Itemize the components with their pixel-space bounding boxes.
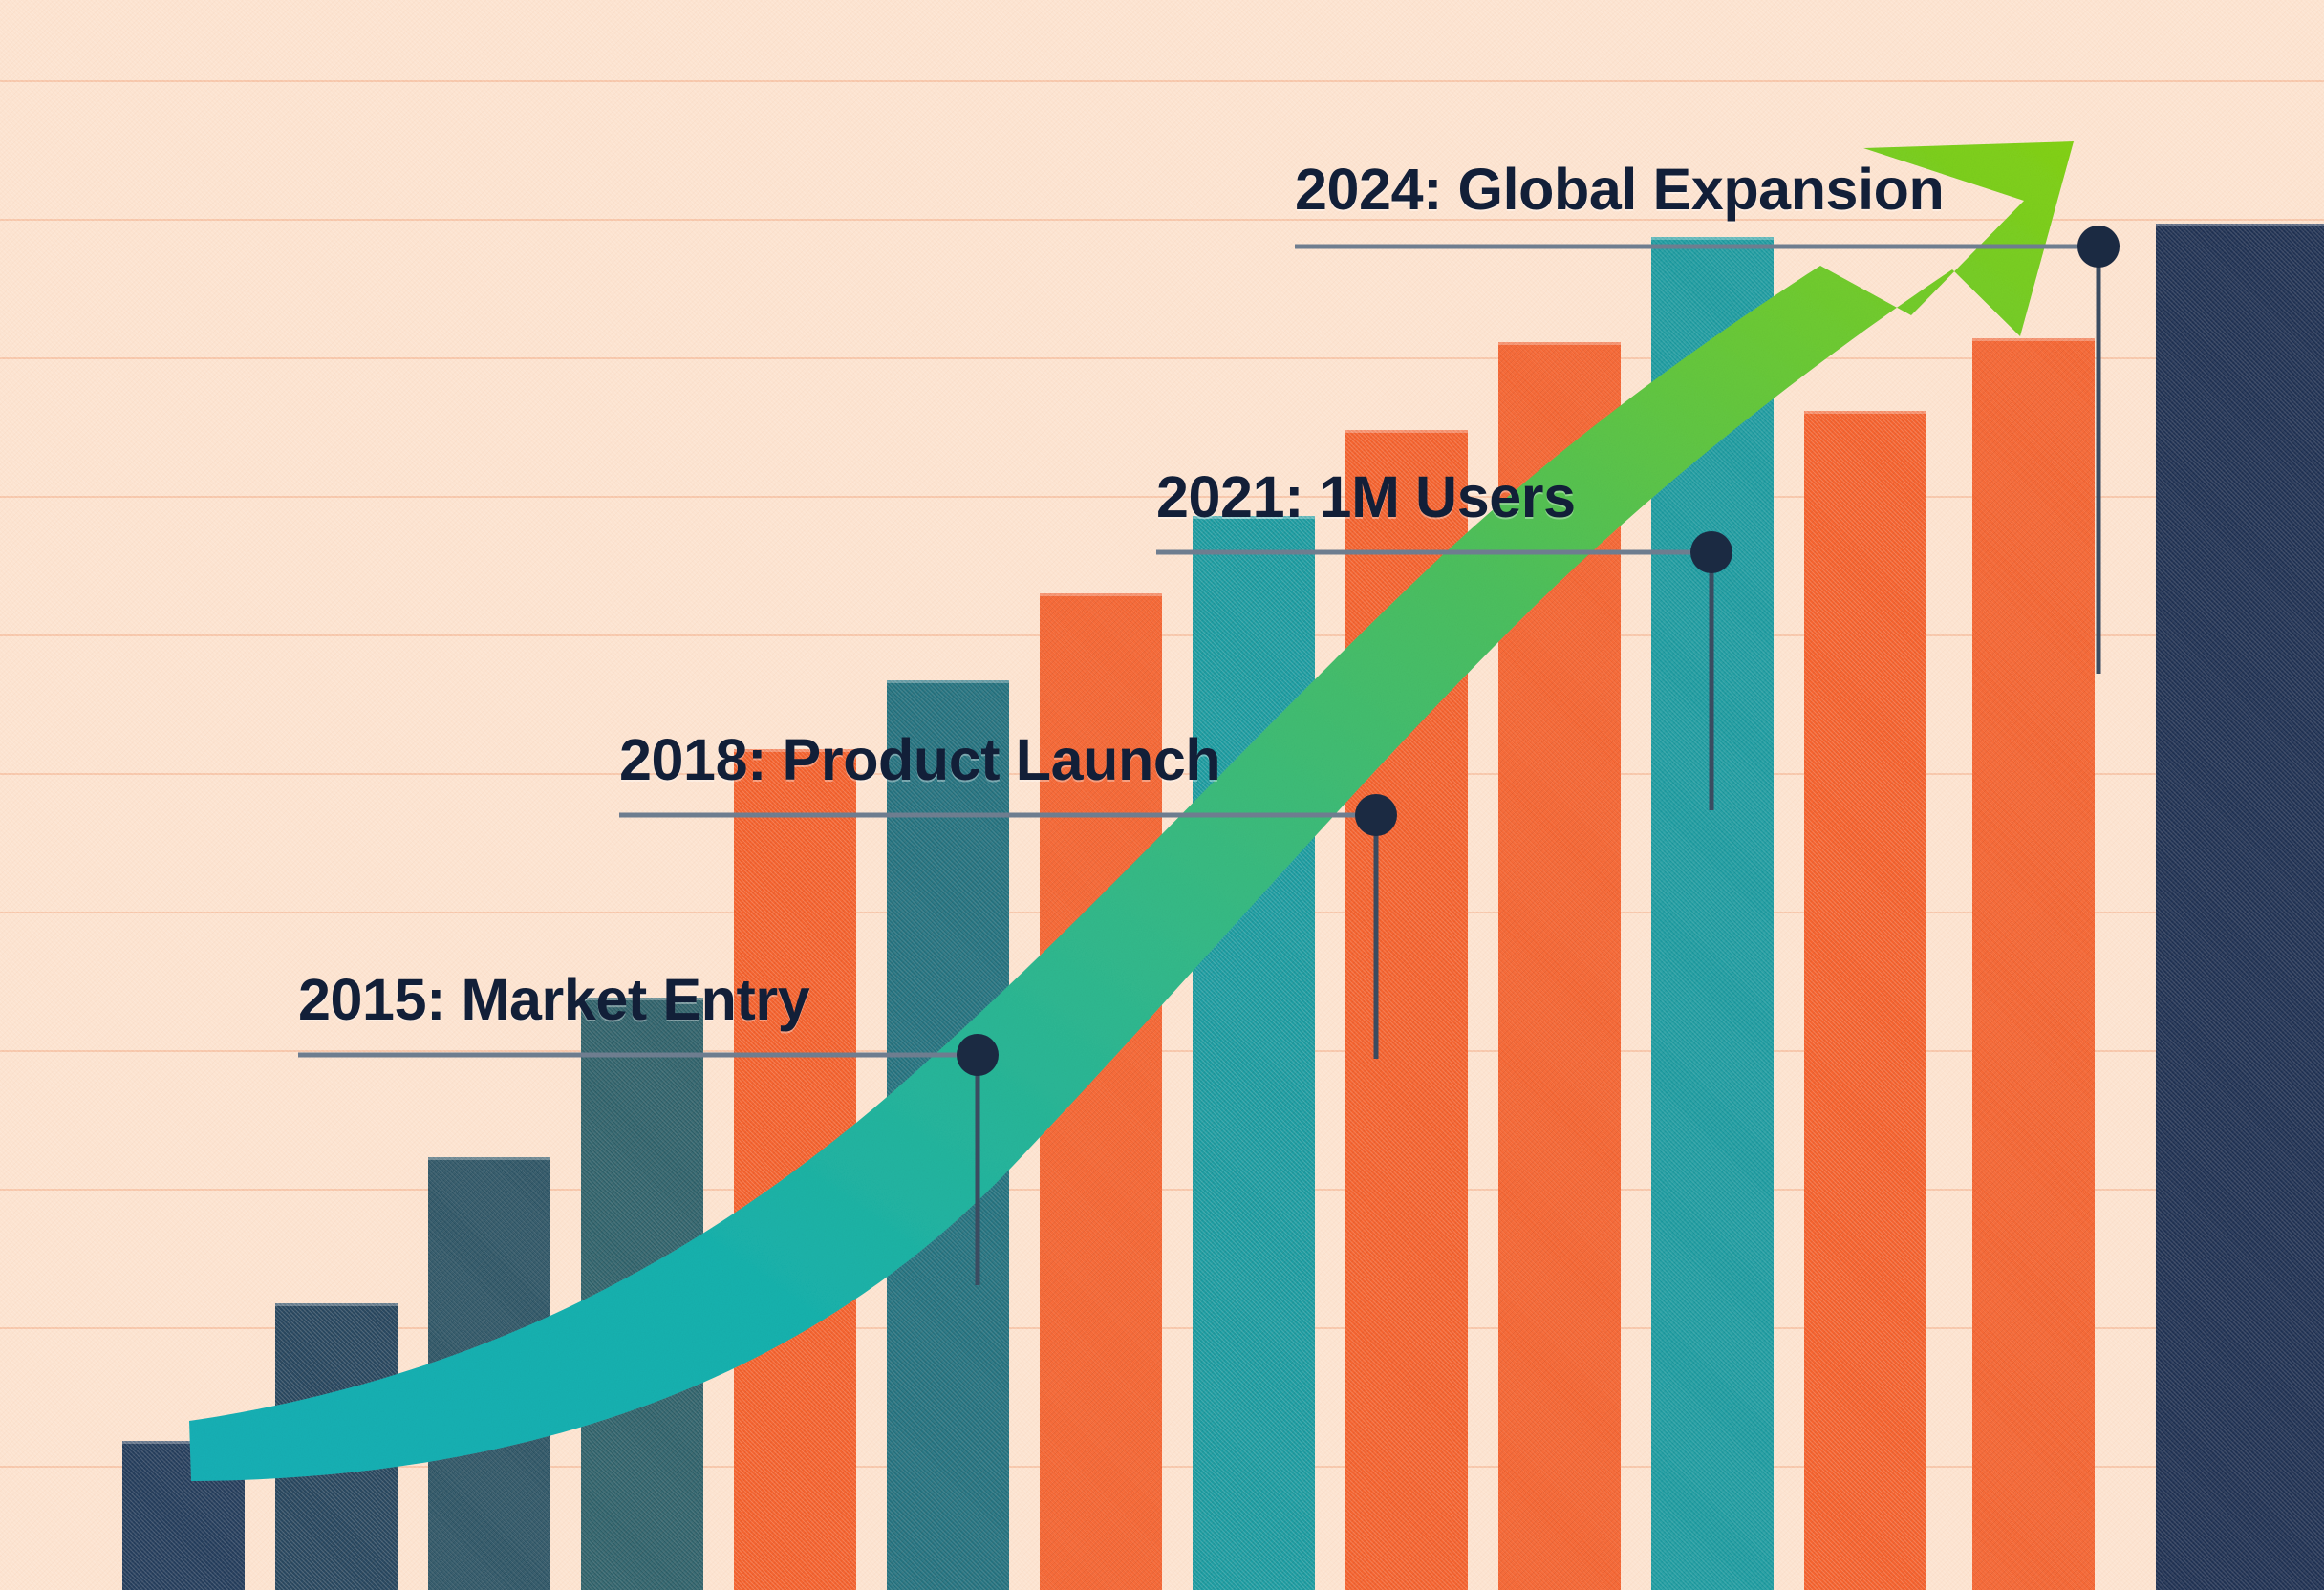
annotation-2021[interactable]: 2021: 1M Users	[1156, 468, 1576, 526]
annotation-2015[interactable]: 2015: Market Entry	[298, 971, 809, 1029]
annotation-2018[interactable]: 2018: Product Launch	[619, 731, 1220, 789]
milestone-dot-2018	[1355, 794, 1397, 836]
annotation-2021-label: 2021: 1M Users	[1156, 468, 1576, 526]
chart-canvas: 2015: Market Entry 2018: Product Launch …	[0, 0, 2324, 1590]
annotation-2024[interactable]: 2024: Global Expansion	[1295, 161, 1944, 219]
annotation-2024-label: 2024: Global Expansion	[1295, 161, 1944, 219]
trend-overlay	[0, 0, 2324, 1590]
milestone-dot-2021	[1690, 531, 1732, 573]
annotation-2018-label: 2018: Product Launch	[619, 731, 1220, 789]
annotation-2015-label: 2015: Market Entry	[298, 971, 809, 1029]
milestone-dot-2015	[957, 1034, 999, 1076]
milestone-dot-2024	[2077, 226, 2120, 268]
growth-arrow	[189, 141, 2074, 1481]
